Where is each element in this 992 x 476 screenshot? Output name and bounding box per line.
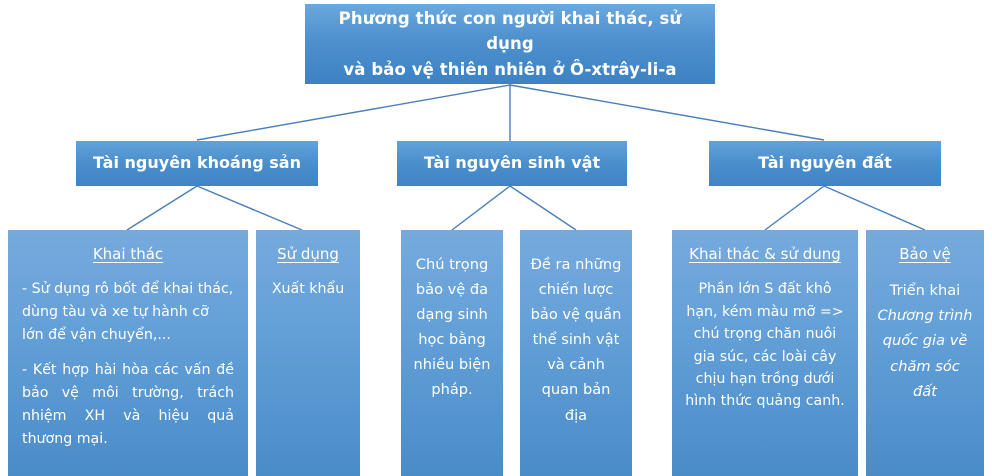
leaf-paragraph: Chú trọng bảo vệ đa dạng sinh học bằng n… <box>411 252 493 403</box>
leaf-box-land-extraction-use[interactable]: Khai thác & sử dung Phần lớn S đất khô h… <box>672 230 858 476</box>
leaf-paragraph-italic: Chương trình quốc gia về chăm sóc đất <box>876 303 974 403</box>
leaf-heading-mineral-extraction: Khai thác <box>93 244 163 264</box>
branch-box-biological-resources[interactable]: Tài nguyên sinh vật <box>397 141 627 186</box>
leaf-body-bio-biodiversity: Chú trọng bảo vệ đa dạng sinh học bằng n… <box>411 252 493 403</box>
leaf-box-bio-strategy[interactable]: Đề ra những chiến lược bảo vệ quần thể s… <box>520 230 632 476</box>
leaf-paragraph: Đề ra những chiến lược bảo vệ quần thể s… <box>530 252 622 428</box>
leaf-body-bio-strategy: Đề ra những chiến lược bảo vệ quần thể s… <box>530 252 622 428</box>
connector-branch3-to-leaf2 <box>824 186 925 230</box>
branch-label-biological-resources: Tài nguyên sinh vật <box>424 153 600 174</box>
connector-branch1-to-leaf2 <box>197 186 302 230</box>
connector-root-to-branch-3 <box>510 85 824 140</box>
root-title-box[interactable]: Phương thức con người khai thác, sử dụng… <box>305 4 715 84</box>
branch-label-mineral-resources: Tài nguyên khoáng sản <box>93 153 301 174</box>
connector-branch1-to-leaf1 <box>127 186 197 230</box>
branch-box-mineral-resources[interactable]: Tài nguyên khoáng sản <box>76 141 318 186</box>
leaf-box-mineral-extraction[interactable]: Khai thác - Sử dụng rô bốt để khai thác,… <box>8 230 248 476</box>
leaf-paragraph: - Sử dụng rô bốt để khai thác, dùng tàu … <box>22 278 234 347</box>
connector-branch3-to-leaf1 <box>765 186 824 230</box>
leaf-paragraph: Xuất khẩu <box>266 278 350 301</box>
branch-label-land-resources: Tài nguyên đất <box>758 153 892 174</box>
leaf-paragraph: Phần lớn S đất khô hạn, kém màu mỡ => ch… <box>684 278 846 413</box>
root-title-line-2: và bảo vệ thiên nhiên ở Ô-xtrây-li-a <box>343 57 676 83</box>
leaf-heading-land-protection: Bảo vệ <box>899 244 951 264</box>
root-title-line-1: Phương thức con người khai thác, sử dụng <box>319 6 701 57</box>
leaf-body-land-protection: Triển khai Chương trình quốc gia về chăm… <box>876 278 974 403</box>
leaf-box-land-protection[interactable]: Bảo vệ Triển khai Chương trình quốc gia … <box>866 230 984 476</box>
leaf-body-land-extraction-use: Phần lớn S đất khô hạn, kém màu mỡ => ch… <box>684 278 846 413</box>
leaf-paragraph-plain: Triển khai <box>876 278 974 303</box>
leaf-box-bio-biodiversity[interactable]: Chú trọng bảo vệ đa dạng sinh học bằng n… <box>401 230 503 476</box>
connector-branch2-to-leaf2 <box>510 186 576 230</box>
leaf-heading-land-extraction-use: Khai thác & sử dung <box>689 244 841 264</box>
branch-box-land-resources[interactable]: Tài nguyên đất <box>709 141 941 186</box>
connector-root-to-branch-1 <box>197 85 510 140</box>
connector-branch2-to-leaf1 <box>452 186 510 230</box>
leaf-box-mineral-use[interactable]: Sử dụng Xuất khẩu <box>256 230 360 476</box>
leaf-body-mineral-use: Xuất khẩu <box>266 278 350 301</box>
leaf-paragraph: - Kết hợp hài hòa các vấn đề bảo vệ môi … <box>22 359 234 451</box>
leaf-body-mineral-extraction: - Sử dụng rô bốt để khai thác, dùng tàu … <box>22 278 234 451</box>
leaf-heading-mineral-use: Sử dụng <box>277 244 339 264</box>
diagram-canvas: Phương thức con người khai thác, sử dụng… <box>0 0 992 476</box>
